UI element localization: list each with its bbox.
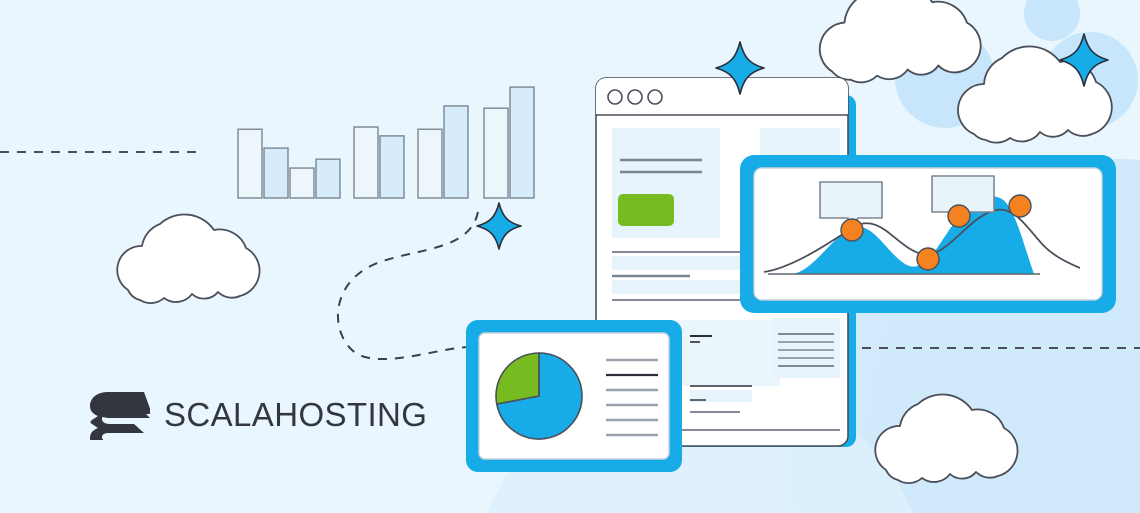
sparkle-center-top-icon: [716, 42, 764, 94]
sparkle-bar-panel-icon: [477, 203, 521, 249]
illustration-canvas: SCALAHOSTING: [0, 0, 1140, 513]
scalahosting-s-logo-icon: [88, 388, 150, 440]
brand-logo[interactable]: SCALAHOSTING: [88, 388, 427, 440]
sparkle-top-right-icon: [1060, 34, 1108, 86]
brand-logo-text: SCALAHOSTING: [164, 398, 427, 431]
